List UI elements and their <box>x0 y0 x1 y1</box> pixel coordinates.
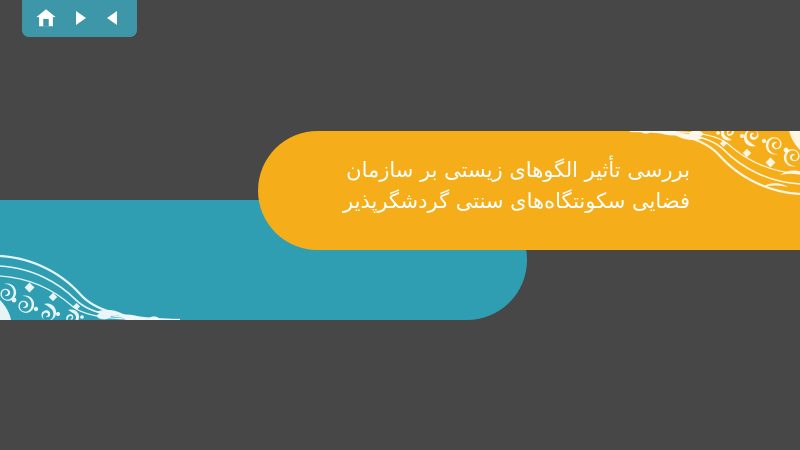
triangle-right-icon <box>70 8 90 28</box>
back-button[interactable] <box>100 5 126 31</box>
title-line-1: بررسی تأثیر الگوهای زیستی بر سازمان <box>260 155 690 186</box>
home-button[interactable] <box>33 5 59 31</box>
forward-button[interactable] <box>67 5 93 31</box>
triangle-left-icon <box>103 8 123 28</box>
slide-canvas: بررسی تأثیر الگوهای زیستی بر سازمان فضای… <box>0 0 800 450</box>
title-line-2: فضایی سکونتگاه‌های سنتی گردشگرپذیر <box>260 186 690 217</box>
arabesque-ornament-icon <box>0 200 180 320</box>
home-icon <box>35 7 57 29</box>
slide-title: بررسی تأثیر الگوهای زیستی بر سازمان فضای… <box>260 155 690 217</box>
navigation-bar <box>22 0 137 37</box>
